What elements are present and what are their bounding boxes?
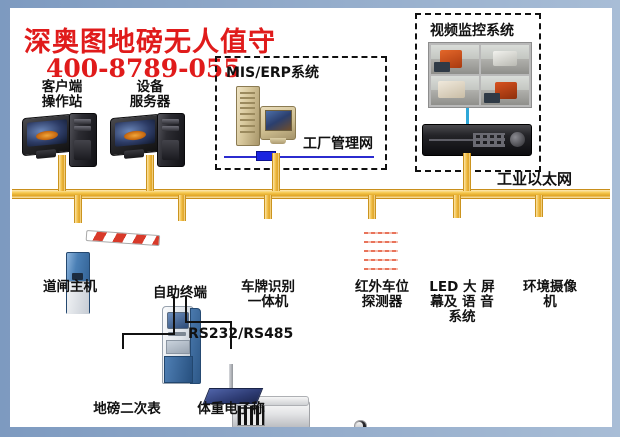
video-cell <box>481 76 529 105</box>
ir-beam <box>364 259 398 261</box>
pc-tower-icon <box>69 113 97 167</box>
quad-view-monitor-icon <box>428 42 532 108</box>
kiosk-serial-line-a <box>173 296 175 334</box>
kiosk-keypad <box>166 340 190 354</box>
bottom-device-label-0: 地磅二次表 <box>72 402 182 417</box>
client-station-label: 客户端 操作站 <box>14 80 110 110</box>
bus-drop-env-cam <box>535 195 543 217</box>
bus-drop-gate <box>74 195 82 223</box>
screen-logo <box>124 130 146 141</box>
bus-drop-server <box>146 155 154 191</box>
factory-network-label: 工厂管理网 <box>303 133 373 153</box>
serial-bus-horizontal <box>122 333 175 335</box>
crt-screen <box>265 110 292 131</box>
bus-drop-led <box>453 195 461 218</box>
ir-beam <box>364 241 398 243</box>
device-label-3: 红外车位 探测器 <box>340 280 424 310</box>
ir-beam <box>364 268 398 270</box>
dvr-video-cable <box>466 108 469 124</box>
crt-stand <box>270 138 286 144</box>
video-cell <box>431 45 479 74</box>
self-service-kiosk-icon <box>162 306 200 382</box>
device-label-4: LED 大 屏 幕及 语 音 系统 <box>420 280 504 325</box>
serial-drop-indicator <box>122 333 124 349</box>
bus-drop-client <box>58 155 66 191</box>
bus-drop-mis <box>272 153 280 191</box>
video-surveillance-title: 视频监控系统 <box>430 20 514 40</box>
ir-beam <box>364 232 398 234</box>
device-server-label: 设备 服务器 <box>102 80 198 110</box>
device-label-2: 车牌识别 一体机 <box>220 280 316 310</box>
bus-drop-lpr <box>264 195 272 219</box>
monitor-screen <box>115 119 155 146</box>
infrared-detector-icon <box>354 420 367 427</box>
monitor-screen <box>27 119 67 146</box>
ethernet-bus <box>12 189 610 199</box>
monitor-stand <box>36 149 56 159</box>
pc-tower-icon <box>157 113 185 167</box>
dvr-icon <box>422 124 532 156</box>
device-label-1: 自助终端 <box>132 286 228 301</box>
serial-bus-horizontal-2 <box>185 321 232 323</box>
outer-frame: 深奥图地磅无人值守 400-8789-055 客户端 操作站 设备 服务器 MI… <box>0 0 620 437</box>
mis-server-tower-icon <box>236 86 260 146</box>
mis-crt-monitor-icon <box>260 106 296 140</box>
bus-drop-video <box>463 153 471 191</box>
monitor-stand <box>124 149 144 159</box>
kiosk-serial-line-b <box>185 296 187 322</box>
screen-logo <box>36 130 58 141</box>
diagram-canvas: 深奥图地磅无人值守 400-8789-055 客户端 操作站 设备 服务器 MI… <box>10 8 612 427</box>
industrial-ethernet-label: 工业以太网 <box>497 168 572 189</box>
ir-beam <box>364 250 398 252</box>
device-label-0: 道闸主机 <box>22 280 118 295</box>
barrier-boom-icon <box>86 230 161 246</box>
bus-drop-kiosk <box>178 195 186 221</box>
serial-protocol-label: RS232/RS485 <box>188 326 293 342</box>
bottom-device-label-1: 体重电子称 <box>176 402 286 417</box>
video-cell <box>481 45 529 74</box>
factory-net-line <box>224 156 374 158</box>
video-cell <box>431 76 479 105</box>
mis-erp-title: MIS/ERP系统 <box>226 62 319 82</box>
scale-post <box>229 364 233 390</box>
device-label-5: 环境摄像 机 <box>505 280 595 310</box>
bus-drop-ir <box>368 195 376 219</box>
